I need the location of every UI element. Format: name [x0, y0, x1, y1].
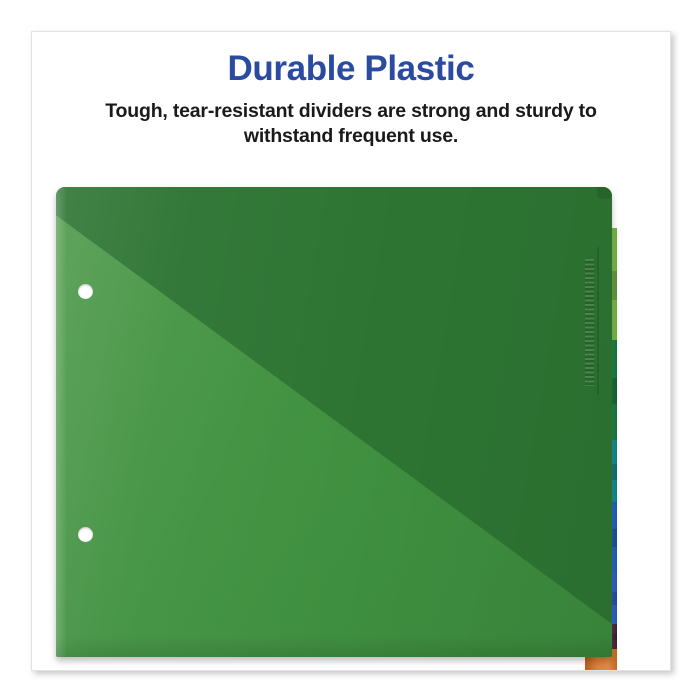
spine-ridge-texture	[585, 259, 594, 386]
sheet-top-notch	[597, 187, 612, 199]
punch-hole-bottom	[78, 527, 93, 542]
divider-sheet	[56, 187, 612, 657]
sheet-left-edge-highlight	[56, 187, 67, 657]
product-photo	[32, 32, 670, 670]
spine-seam	[597, 247, 599, 395]
product-image-card: Durable Plastic Tough, tear-resistant di…	[31, 31, 671, 671]
sheet-bottom-shading	[56, 635, 612, 657]
plastic-gloss-overlay	[56, 187, 612, 657]
punch-hole-top	[78, 284, 93, 299]
